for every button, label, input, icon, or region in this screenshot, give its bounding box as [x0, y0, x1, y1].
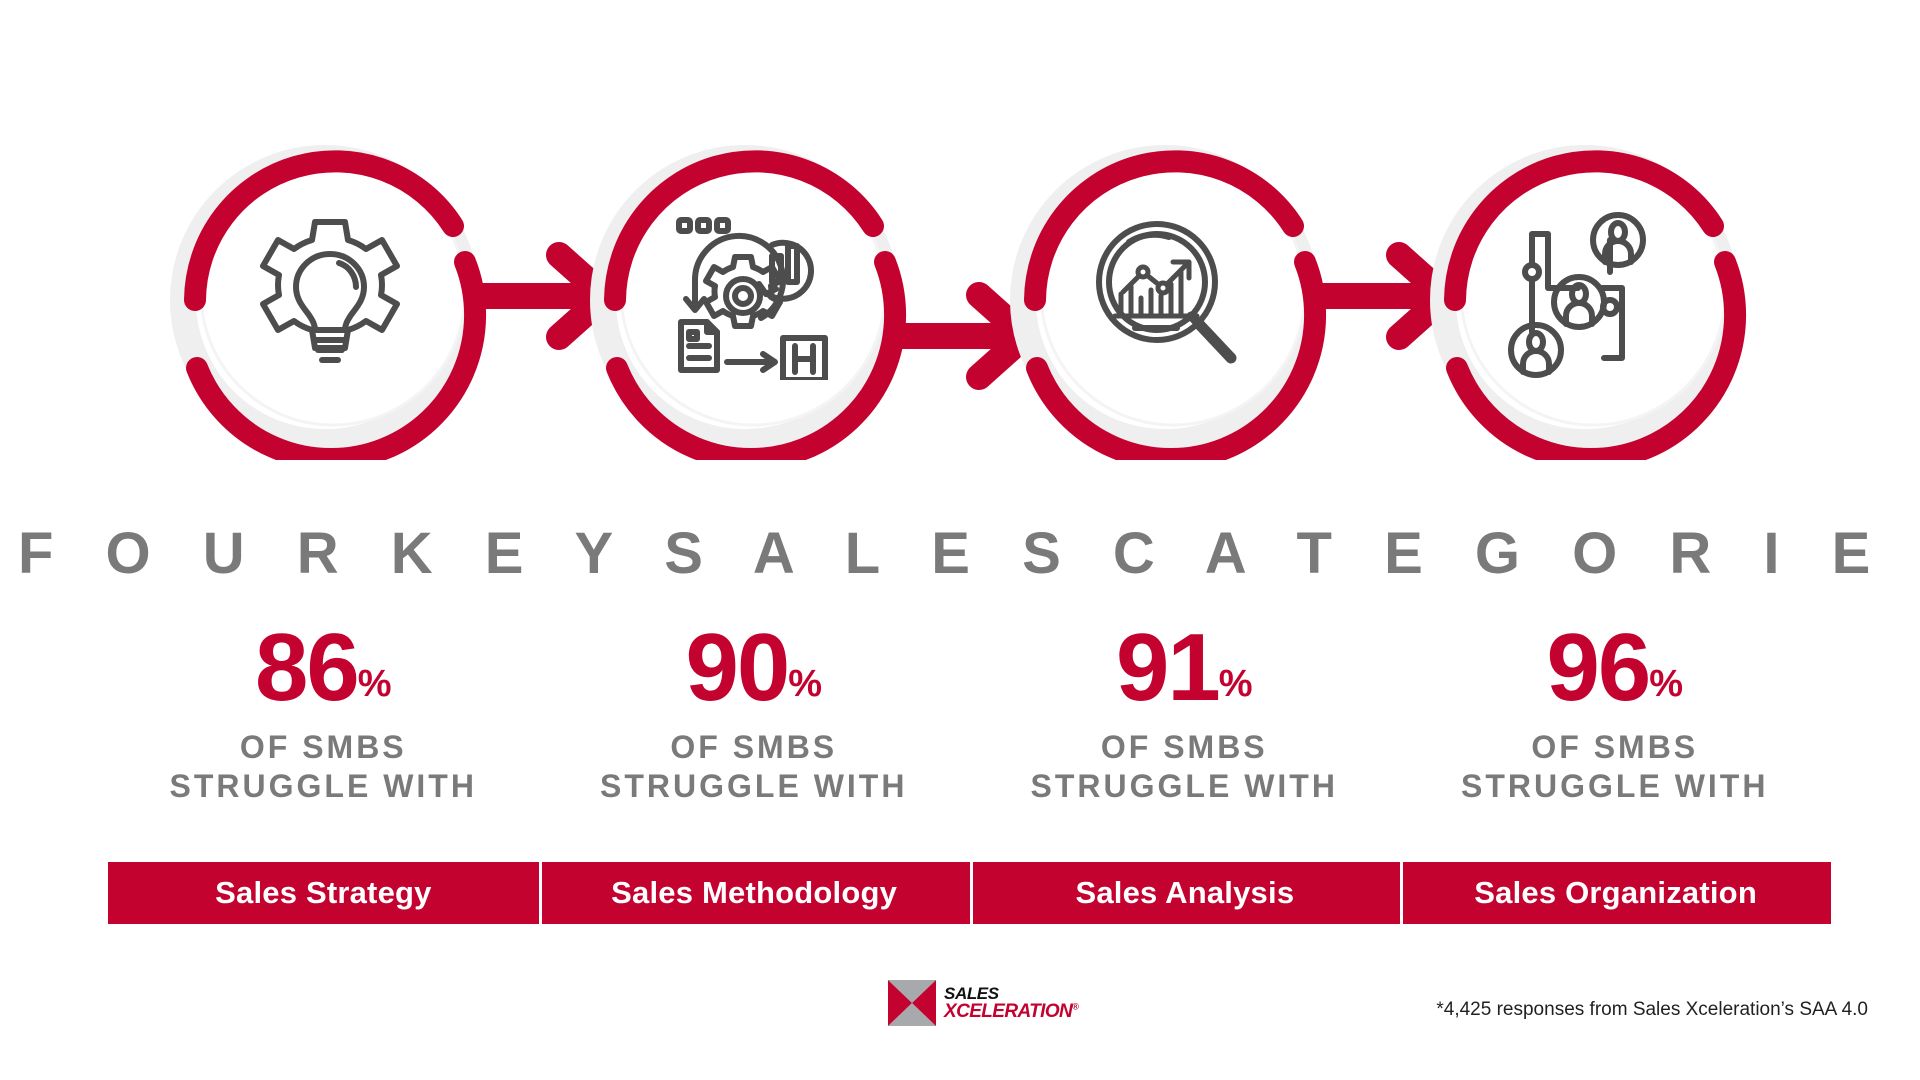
- bulb-outline: [296, 254, 364, 330]
- category-label-3[interactable]: Sales Analysis: [970, 862, 1401, 924]
- infographic-canvas: F O U R K E Y S A L E S C A T E G O R I …: [0, 0, 1920, 1080]
- category-label-2[interactable]: Sales Methodology: [539, 862, 970, 924]
- percent-sign: %: [788, 663, 822, 705]
- magnifier-bar-chart-icon: [1085, 210, 1255, 380]
- logo-line-1: SALES: [944, 985, 1078, 1002]
- percent-sign: %: [1649, 663, 1683, 705]
- stat-subline-1: OF SMBS: [108, 728, 539, 767]
- category-node-1[interactable]: [165, 130, 495, 460]
- trend-point-1: [1138, 267, 1148, 277]
- category-label-bar: Sales Strategy Sales Methodology Sales A…: [108, 862, 1831, 924]
- stat-percent-value: 96: [1546, 614, 1649, 721]
- stat-column-3: 91% OF SMBS STRUGGLE WITH: [969, 620, 1400, 806]
- stat-column-1: 86% OF SMBS STRUGGLE WITH: [108, 620, 539, 806]
- magnifier-lens-shine: [1129, 235, 1169, 242]
- stat-percent-value: 86: [255, 614, 358, 721]
- stat-subline-1: OF SMBS: [1400, 728, 1831, 767]
- footer: SALES XCELERATION® *4,425 responses from…: [0, 975, 1920, 1045]
- gear-ring-outer: [726, 279, 760, 313]
- avatar-top: [1593, 215, 1643, 265]
- stat-subline-1: OF SMBS: [969, 728, 1400, 767]
- org-path-left: [1532, 234, 1578, 332]
- document-mark: [689, 332, 697, 339]
- stat-subline-2: STRUGGLE WITH: [1400, 767, 1831, 806]
- avatar-bottom: [1511, 325, 1561, 375]
- stat-percent-value: 91: [1116, 614, 1219, 721]
- trend-point-2: [1158, 283, 1168, 293]
- registered-mark: ®: [1072, 1002, 1078, 1012]
- process-icon-row: [0, 120, 1920, 480]
- org-chart-people-icon: [1505, 210, 1675, 380]
- stat-percent-3: 91%: [969, 620, 1400, 716]
- logo-wordmark: SALES XCELERATION®: [944, 985, 1078, 1022]
- stat-subline-2: STRUGGLE WITH: [539, 767, 970, 806]
- attribution-note: *4,425 responses from Sales Xceleration’…: [1436, 999, 1868, 1021]
- dot-square-1: [679, 220, 690, 231]
- stat-percent-4: 96%: [1400, 620, 1831, 716]
- stats-row: 86% OF SMBS STRUGGLE WITH 90% OF SMBS ST…: [108, 620, 1830, 806]
- category-label-4[interactable]: Sales Organization: [1400, 862, 1831, 924]
- stat-column-4: 96% OF SMBS STRUGGLE WITH: [1400, 620, 1831, 806]
- percent-sign: %: [358, 663, 392, 705]
- stat-subline-1: OF SMBS: [539, 728, 970, 767]
- stat-column-2: 90% OF SMBS STRUGGLE WITH: [539, 620, 970, 806]
- stat-subline-2: STRUGGLE WITH: [108, 767, 539, 806]
- process-gear-workflow-icon: [665, 210, 835, 380]
- category-label-1[interactable]: Sales Strategy: [108, 862, 539, 924]
- sales-xceleration-logo[interactable]: SALES XCELERATION®: [888, 980, 1078, 1026]
- dot-square-3: [717, 220, 728, 231]
- percent-sign: %: [1219, 663, 1253, 705]
- stat-percent-2: 90%: [539, 620, 970, 716]
- gear-ring-inner: [735, 288, 751, 304]
- box-letter-h: [795, 346, 813, 372]
- category-node-4[interactable]: [1425, 130, 1755, 460]
- logo-line-2-text: XCELERATION: [944, 1001, 1072, 1022]
- page-title: F O U R K E Y S A L E S C A T E G O R I …: [0, 520, 1920, 587]
- avatar-middle: [1554, 277, 1604, 327]
- category-node-2[interactable]: [585, 130, 915, 460]
- mini-bar-2: [788, 246, 797, 282]
- logo-line-2: XCELERATION®: [944, 1002, 1078, 1021]
- org-node-dot-1: [1525, 265, 1539, 279]
- x-logo-icon: [888, 980, 936, 1026]
- stat-subline-2: STRUGGLE WITH: [969, 767, 1400, 806]
- stat-percent-value: 90: [685, 614, 788, 721]
- category-node-3[interactable]: [1005, 130, 1335, 460]
- lightbulb-gear-icon: [245, 210, 415, 380]
- dot-square-2: [698, 220, 709, 231]
- stat-percent-1: 86%: [108, 620, 539, 716]
